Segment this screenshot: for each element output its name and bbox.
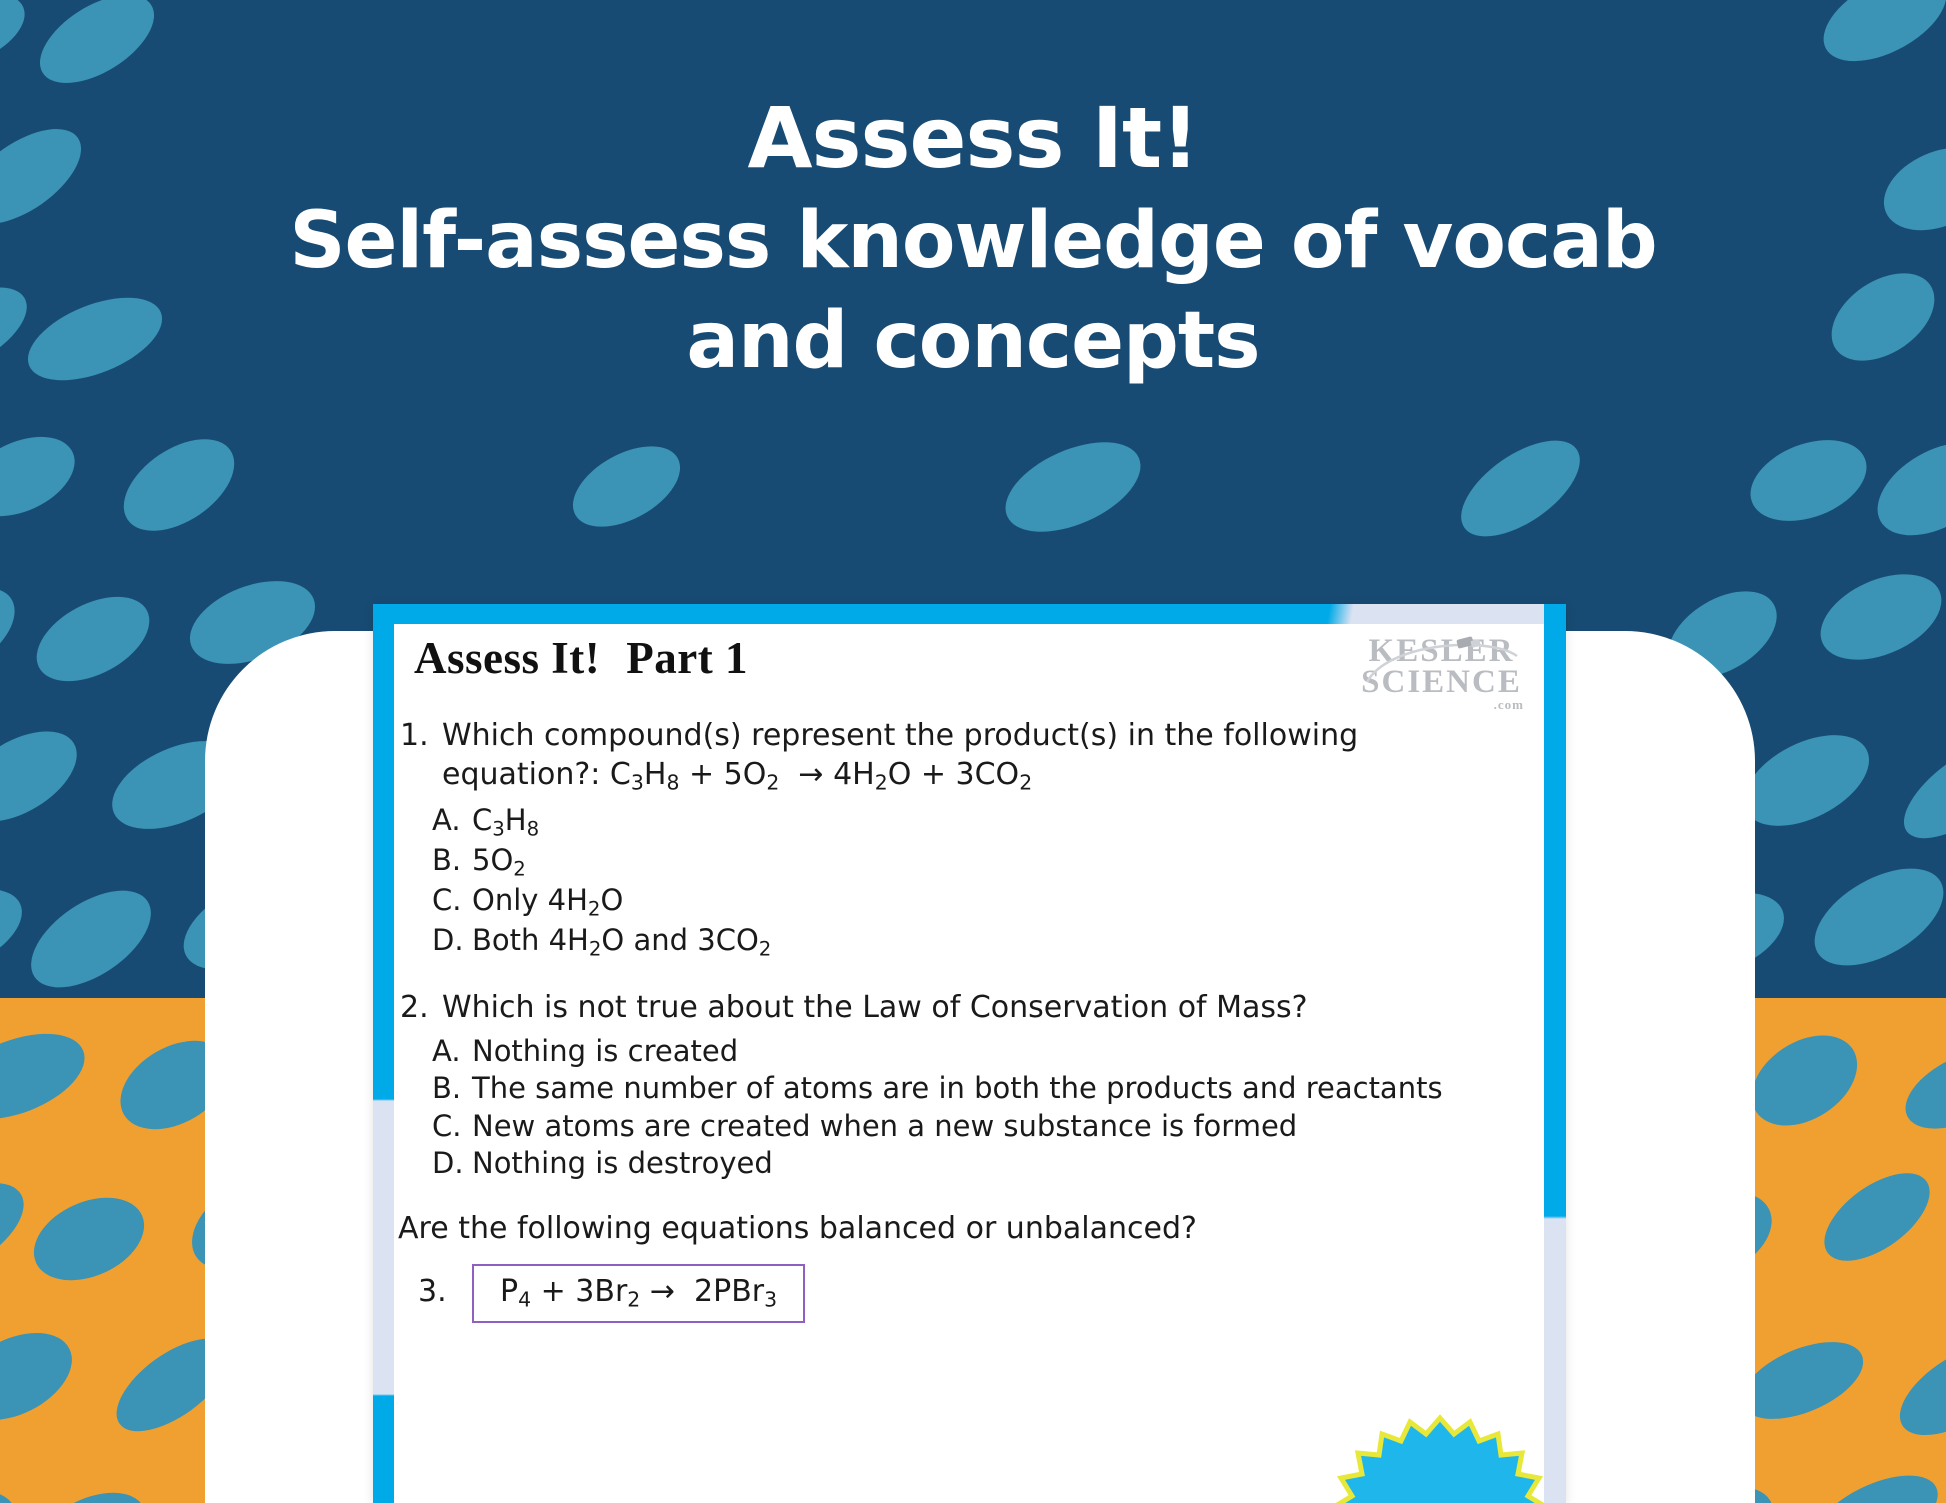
question-equation: equation?: C3H8 + 5O2 → 4H2O + 3CO2: [442, 757, 1032, 792]
decorative-ellipse: [1893, 1033, 1946, 1145]
option-text: Nothing is created: [472, 1033, 1544, 1070]
decorative-ellipse: [0, 1474, 28, 1503]
decorative-ellipse: [559, 429, 693, 543]
equation-number: 3.: [412, 1264, 472, 1309]
logo-line-3: .com: [1349, 699, 1534, 711]
decorative-ellipse: [0, 1315, 86, 1438]
decorative-ellipse: [1889, 722, 1946, 857]
option-text: Both 4H2O and 3CO2: [472, 922, 1544, 962]
option-text: C3H8: [472, 802, 1544, 842]
decorative-ellipse: [1809, 1156, 1944, 1278]
option-letter: B.: [432, 842, 472, 882]
question-text: Which is not true about the Law of Conse…: [442, 988, 1544, 1027]
worksheet-heading: Assess It!Part 1: [414, 632, 748, 684]
decorative-ellipse: [14, 871, 167, 1007]
decorative-ellipse: [1799, 849, 1946, 986]
worksheet-border-right: [1544, 604, 1566, 1503]
question-text-line1: Which compound(s) represent the product(…: [442, 718, 1358, 753]
question-text: Which compound(s) represent the product(…: [442, 716, 1544, 796]
decorative-ellipse: [12, 1474, 163, 1503]
decorative-ellipse: [1862, 424, 1946, 555]
option-text: 5O2: [472, 842, 1544, 882]
question-2: 2. Which is not true about the Law of Co…: [394, 988, 1544, 1027]
option-text: New atoms are created when a new substan…: [472, 1108, 1544, 1145]
kesler-science-logo: KESLER SCIENCE .com: [1349, 636, 1534, 711]
option-list: A. C3H8 B. 5O2 C. Only 4H2O D.: [394, 802, 1544, 962]
option-d[interactable]: D. Both 4H2O and 3CO2: [394, 922, 1544, 962]
decorative-ellipse: [1940, 265, 1946, 388]
decorative-ellipse: [0, 0, 35, 82]
option-d[interactable]: D. Nothing is destroyed: [394, 1145, 1544, 1182]
section-prompt: Are the following equations balanced or …: [394, 1209, 1544, 1248]
logo-line-1: KESLER: [1349, 636, 1534, 667]
worksheet-border-left: [373, 604, 394, 1503]
decorative-ellipse: [0, 110, 97, 242]
option-letter: A.: [432, 802, 472, 842]
decorative-ellipse: [23, 579, 164, 698]
decorative-ellipse: [0, 872, 34, 988]
question-number: 1.: [394, 716, 442, 796]
option-letter: B.: [432, 1070, 472, 1107]
decorative-ellipse: [0, 570, 29, 690]
option-text: Only 4H2O: [472, 882, 1544, 922]
option-letter: D.: [432, 1145, 472, 1182]
option-a[interactable]: A. C3H8: [394, 802, 1544, 842]
worksheet-border-top: [373, 604, 1566, 624]
option-a[interactable]: A. Nothing is created: [394, 1033, 1544, 1070]
decorative-ellipse: [1800, 1458, 1946, 1503]
option-c[interactable]: C. New atoms are created when a new subs…: [394, 1108, 1544, 1145]
logo-line-2: SCIENCE: [1349, 667, 1534, 698]
question-number: 2.: [394, 988, 442, 1027]
decorative-ellipse: [0, 420, 87, 531]
option-text: The same number of atoms are in both the…: [472, 1070, 1544, 1107]
decorative-ellipse: [1816, 255, 1946, 378]
decorative-ellipse: [1807, 557, 1946, 677]
question-item: 2. Which is not true about the Law of Co…: [394, 988, 1544, 1183]
option-letter: C.: [432, 882, 472, 922]
worksheet-content: Assess It!Part 1 KESLER SCIENCE .com 1.: [394, 624, 1544, 1503]
equation-box[interactable]: P4 + 3Br2 → 2PBr3: [472, 1264, 805, 1324]
question-item: 1. Which compound(s) represent the produ…: [394, 716, 1544, 962]
option-list: A. Nothing is created B. The same number…: [394, 1033, 1544, 1183]
worksheet-questions: 1. Which compound(s) represent the produ…: [394, 716, 1544, 1323]
worksheet-heading-title: Assess It!: [414, 633, 600, 683]
decorative-ellipse: [25, 0, 169, 101]
decorative-ellipse: [1445, 421, 1596, 554]
question-1: 1. Which compound(s) represent the produ…: [394, 716, 1544, 796]
option-letter: C.: [432, 1108, 472, 1145]
starburst-badge-icon: [1330, 1412, 1550, 1503]
decorative-ellipse: [1871, 132, 1946, 247]
slide-canvas: Assess It! Self-assess knowledge of voca…: [0, 0, 1946, 1503]
option-letter: D.: [432, 922, 472, 962]
option-b[interactable]: B. 5O2: [394, 842, 1544, 882]
equation-item: 3. P4 + 3Br2 → 2PBr3: [394, 1264, 1544, 1324]
decorative-ellipse: [1738, 424, 1877, 536]
decorative-ellipse: [1885, 1324, 1946, 1453]
option-c[interactable]: C. Only 4H2O: [394, 882, 1544, 922]
decorative-ellipse: [0, 1016, 96, 1135]
worksheet-heading-part: Part 1: [626, 633, 748, 683]
decorative-ellipse: [21, 1182, 157, 1297]
option-b[interactable]: B. The same number of atoms are in both …: [394, 1070, 1544, 1107]
decorative-ellipse: [1809, 0, 1946, 79]
option-text: Nothing is destroyed: [472, 1145, 1544, 1182]
worksheet-page: Assess It!Part 1 KESLER SCIENCE .com 1.: [373, 604, 1566, 1503]
decorative-ellipse: [107, 420, 250, 549]
decorative-ellipse: [0, 1163, 39, 1296]
decorative-ellipse: [0, 712, 92, 839]
decorative-ellipse: [1735, 1016, 1873, 1143]
decorative-ellipse: [992, 424, 1154, 550]
option-letter: A.: [432, 1033, 472, 1070]
decorative-ellipse: [16, 281, 173, 397]
